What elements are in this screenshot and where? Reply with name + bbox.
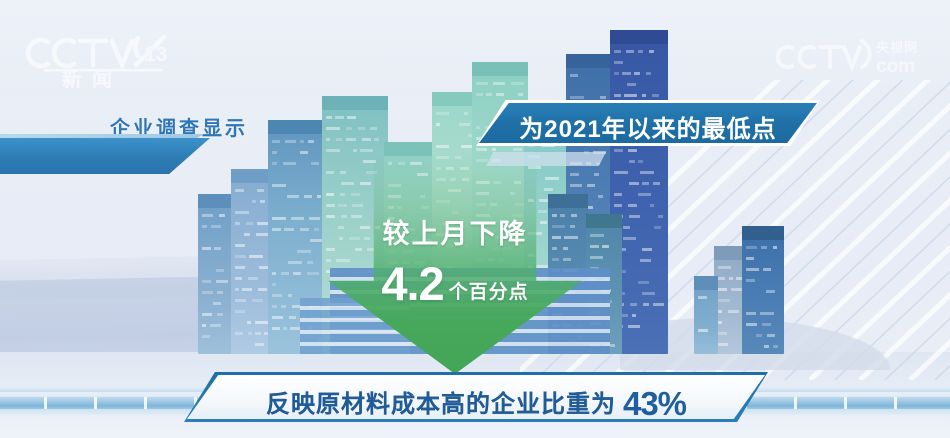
building-window (513, 148, 522, 151)
building-window (614, 61, 623, 64)
building-window (614, 193, 622, 196)
building-window (746, 257, 754, 260)
building-window (614, 72, 619, 75)
building-window (640, 171, 654, 174)
bottom-banner-value: 43% (623, 385, 686, 422)
building-window (326, 215, 335, 218)
top-banner: 为2021年以来的最低点 (476, 100, 820, 146)
building-window (260, 200, 265, 203)
building-window (300, 151, 308, 154)
building-window (436, 123, 440, 126)
building-window (300, 140, 304, 143)
building-window (364, 237, 370, 240)
building-window (493, 82, 505, 85)
building-window (326, 248, 335, 251)
building-window (587, 184, 595, 187)
building-window (216, 269, 224, 272)
building-window (634, 72, 640, 75)
bottom-banner-text-group: 反映原材料成本高的企业比重为43% (187, 384, 765, 423)
building-window (346, 127, 352, 130)
building-window (638, 160, 643, 163)
building-window (653, 303, 664, 306)
building-window (202, 280, 211, 283)
building-window (623, 226, 630, 229)
building-window (552, 247, 557, 250)
building-window (339, 237, 343, 240)
building-window (248, 277, 258, 280)
building-window (272, 305, 277, 308)
building (742, 226, 784, 354)
building-window (346, 138, 356, 141)
building-window (643, 303, 649, 306)
building-window (570, 173, 579, 176)
building-window (355, 248, 362, 251)
building-window (340, 193, 345, 196)
building-window (257, 189, 264, 192)
building-window (642, 292, 655, 295)
building-window (552, 236, 561, 239)
building-window (718, 310, 722, 313)
svg-text:新闻: 新闻 (62, 67, 122, 88)
building-window (360, 226, 370, 229)
building-window (210, 324, 221, 327)
building-window (767, 334, 775, 337)
building-window (272, 140, 280, 143)
building-window (336, 138, 342, 141)
building-window (338, 226, 344, 229)
building-window (255, 332, 261, 335)
building-window (496, 93, 504, 96)
building-window (272, 283, 276, 286)
building-window (762, 323, 771, 326)
building-window (202, 324, 206, 327)
building-window (326, 204, 335, 207)
building-window (629, 182, 639, 185)
building-window (570, 184, 582, 187)
building-window (326, 259, 331, 262)
building-window (326, 171, 334, 174)
building-window (304, 195, 312, 198)
building-window (570, 225, 575, 228)
building-window (293, 272, 301, 275)
building-window (614, 50, 621, 53)
building-window (650, 204, 654, 207)
building-window (351, 215, 362, 218)
month-banner-highlight (0, 134, 204, 138)
building-window (326, 193, 334, 196)
building-window (235, 244, 245, 247)
bottom-banner: 反映原材料成本高的企业比重为43% (184, 372, 768, 422)
building-window (718, 332, 727, 335)
building-window (287, 195, 299, 198)
building-window (297, 250, 311, 253)
top-banner-label: 为2021年以来的最低点 (479, 109, 817, 144)
building-window (538, 210, 547, 213)
building-window (773, 345, 778, 348)
building-window (544, 188, 553, 191)
building-window (235, 299, 246, 302)
building-window (217, 291, 223, 294)
building-window (654, 226, 661, 229)
building-window (255, 343, 264, 346)
building-window (272, 327, 280, 330)
building-window (760, 312, 774, 315)
building-window (628, 149, 637, 152)
building-window (564, 236, 578, 239)
building-window (248, 332, 252, 335)
building-window (492, 148, 496, 151)
building-window (638, 193, 651, 196)
building-window (352, 204, 363, 207)
building-window (545, 177, 559, 180)
building-window (552, 214, 557, 217)
building-window (235, 288, 239, 291)
building-window (756, 334, 762, 337)
building-window (216, 280, 228, 283)
building-window (360, 149, 373, 152)
building-window (202, 225, 207, 228)
building-window (746, 268, 759, 271)
building-window (630, 303, 637, 306)
building-window (353, 149, 357, 152)
building-window (358, 127, 365, 130)
building-window (539, 199, 548, 202)
building-window (246, 222, 253, 225)
building-window (476, 148, 487, 151)
bottom-banner-label: 反映原材料成本高的企业比重为 (266, 391, 616, 418)
building-window (626, 50, 634, 53)
building-window (638, 281, 649, 284)
building-window (590, 256, 603, 259)
building-window (252, 299, 263, 302)
building-window (309, 217, 320, 220)
building-window (646, 72, 651, 75)
building-window (235, 222, 240, 225)
building-window (281, 305, 286, 308)
building-window (511, 82, 524, 85)
building-window (718, 277, 725, 280)
building-window (338, 204, 347, 207)
building-window (288, 294, 292, 297)
svg-text:央视网: 央视网 (876, 40, 918, 55)
building-window (614, 94, 621, 97)
building-window (272, 184, 286, 187)
building-window (281, 272, 289, 275)
building-window (698, 296, 707, 299)
building-window (746, 312, 756, 315)
building-window (347, 116, 356, 119)
building-window (307, 272, 319, 275)
building-window (570, 96, 584, 99)
building-window (642, 248, 652, 251)
building-window (289, 316, 296, 319)
building-window (629, 160, 635, 163)
building-window (249, 255, 263, 258)
building-window (235, 277, 242, 280)
building-window (746, 279, 755, 282)
building-window (718, 321, 722, 324)
building-window (370, 127, 377, 130)
building-window (476, 93, 483, 96)
building-window (288, 261, 302, 264)
building-window (614, 204, 622, 207)
building-window (202, 335, 210, 338)
building-window (622, 72, 631, 75)
building-window (461, 145, 472, 148)
building-window (351, 193, 360, 196)
building-window (632, 314, 636, 317)
building-window (202, 247, 211, 250)
building-window (560, 214, 565, 217)
building-window (698, 329, 708, 332)
building-window (761, 246, 767, 249)
building-window (213, 302, 221, 305)
building-window (336, 259, 350, 262)
building-window (642, 182, 649, 185)
building-window (308, 140, 314, 143)
building-window (341, 215, 347, 218)
building-window (258, 288, 267, 291)
building-window (614, 171, 628, 174)
building-window (718, 288, 727, 291)
building-window (211, 225, 221, 228)
building-window (219, 214, 225, 217)
building-window (436, 112, 449, 115)
building-window (628, 204, 637, 207)
bottom-banner-fill: 反映原材料成本高的企业比重为43% (187, 375, 765, 419)
building-window (362, 138, 371, 141)
building-window (627, 83, 636, 86)
building-window (652, 94, 659, 97)
building-window (255, 321, 268, 324)
top-banner-fill: 为2021年以来的最低点 (479, 103, 817, 143)
building-window (653, 182, 660, 185)
building-window (464, 112, 468, 115)
building-window (202, 313, 212, 316)
cctv13-logo: 13 新闻 (18, 28, 190, 88)
building-window (518, 93, 523, 96)
building-window (563, 247, 568, 250)
building-window (235, 310, 245, 313)
building-window (272, 162, 277, 165)
building-window (244, 233, 250, 236)
building-window (272, 316, 283, 319)
building-window (235, 255, 246, 258)
building-window (272, 272, 276, 275)
building-window (326, 138, 330, 141)
svg-text:13: 13 (144, 43, 167, 66)
building-window (242, 288, 252, 291)
building-window (235, 332, 243, 335)
building-window (202, 291, 213, 294)
building-window (746, 246, 757, 249)
building-window (217, 313, 223, 316)
building-window (317, 195, 321, 198)
building-window (374, 138, 379, 141)
building-window (486, 93, 492, 96)
building-window (310, 239, 322, 242)
building-window (570, 74, 578, 77)
building-window (614, 149, 623, 152)
building-window (252, 200, 256, 203)
cctv-com-watermark: 央视网 com (776, 34, 934, 78)
building-window (624, 94, 637, 97)
building-window (571, 214, 577, 217)
top-banner-shadow-chip (486, 152, 606, 166)
building-window (247, 321, 251, 324)
building-window (773, 246, 777, 249)
building-window (235, 189, 244, 192)
building-window (272, 151, 277, 154)
building-window (598, 195, 603, 198)
building-window (476, 82, 488, 85)
building-window (272, 228, 281, 231)
building-window (563, 258, 571, 261)
building-window (272, 217, 286, 220)
building-window (283, 327, 287, 330)
building-window (658, 215, 663, 218)
building-window (335, 116, 344, 119)
building-window (326, 127, 340, 130)
building-window (594, 173, 599, 176)
building (694, 276, 718, 354)
building-window (640, 259, 651, 262)
svg-text:com: com (876, 56, 915, 77)
building-window (307, 261, 313, 264)
building-window (272, 294, 282, 297)
building-window (766, 290, 775, 293)
building-window (202, 214, 213, 217)
building-window (360, 182, 371, 185)
building-window (718, 266, 731, 269)
building-window (436, 145, 449, 148)
building-window (623, 237, 636, 240)
building-window (590, 245, 599, 248)
building-window (459, 123, 470, 126)
building-window (629, 215, 640, 218)
building-window (600, 96, 606, 99)
building-window (764, 345, 769, 348)
building-window (340, 171, 346, 174)
building-window (214, 247, 221, 250)
building-window (291, 217, 304, 220)
building-window (311, 162, 319, 165)
building-window (642, 94, 646, 97)
building-window (341, 182, 354, 185)
building-window (283, 162, 296, 165)
building (198, 194, 232, 354)
building-window (638, 50, 643, 53)
building-window (728, 310, 739, 313)
building-window (349, 237, 360, 240)
building-window (649, 50, 654, 53)
building-window (284, 228, 294, 231)
building-window (718, 343, 728, 346)
building-window (628, 325, 640, 328)
building-window (540, 221, 547, 224)
building-window (746, 323, 757, 326)
building-window (602, 245, 609, 248)
building-window (731, 288, 742, 291)
building-window (300, 228, 309, 231)
building-window (235, 211, 249, 214)
building-window (314, 228, 319, 231)
building-window (326, 116, 332, 119)
building-window (552, 225, 565, 228)
building-window (285, 140, 296, 143)
building-window (552, 258, 559, 261)
building-window (326, 149, 340, 152)
broadcast-graphic: 较上月下降 4.2个百分点 企业调查显示 4 月 份 为2021年以来的最低点 (0, 0, 950, 438)
building-window (718, 299, 730, 302)
building-window (763, 268, 771, 271)
building-window (729, 277, 733, 280)
building-window (235, 266, 245, 269)
building-window (590, 234, 604, 237)
